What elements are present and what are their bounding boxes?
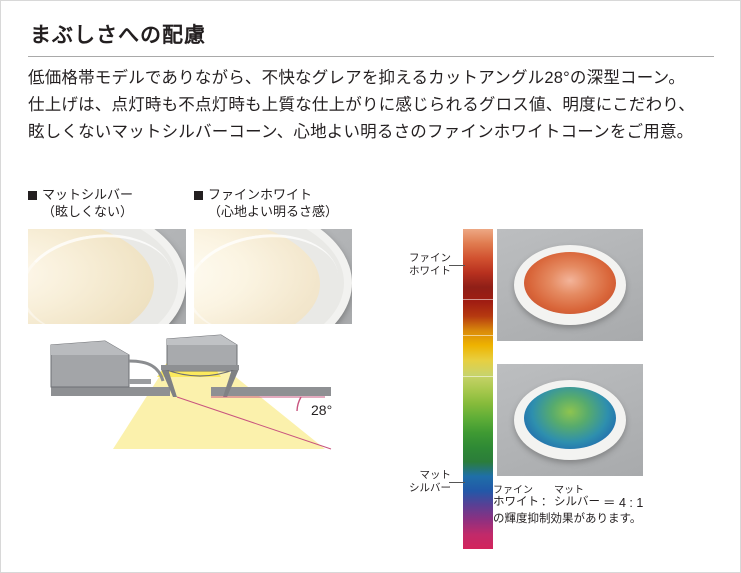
caption-matte-silver-line1: マットシルバー bbox=[42, 187, 133, 202]
ratio-fine-white-top: ファイン bbox=[493, 485, 539, 496]
bullet-square-icon bbox=[28, 191, 37, 200]
connector-wire bbox=[129, 361, 163, 381]
caption-fine-white-line1: ファインホワイト bbox=[208, 187, 312, 202]
caption-fine-white: ファインホワイト （心地よい明るさ感） bbox=[194, 186, 338, 220]
ratio-note: の輝度抑制効果があります。 bbox=[493, 512, 733, 526]
ratio-expression: ファイン ホワイト ： マット シルバー ＝ 4 : 1 bbox=[493, 485, 733, 509]
scale-label-fine-white: ファイン ホワイト bbox=[399, 252, 451, 278]
gear-box-bracket bbox=[129, 379, 151, 384]
title-divider bbox=[28, 56, 714, 57]
ratio-matte-silver-top: マット bbox=[554, 485, 600, 496]
scale-label-matte-silver: マット シルバー bbox=[399, 469, 451, 495]
body-line-3: 眩しくないマットシルバーコーン、心地よい明るさのファインホワイトコーンをご用意。 bbox=[28, 119, 728, 146]
page-root: まぶしさへの配慮 低価格帯モデルでありながら、不快なグレアを抑えるカットアングル… bbox=[0, 0, 741, 573]
angle-label: 28° bbox=[311, 402, 332, 418]
leader-line-matte-silver bbox=[449, 482, 465, 483]
ratio-term-fine-white: ファイン ホワイト bbox=[493, 485, 539, 509]
ratio-value: ＝ 4 : 1 bbox=[600, 497, 643, 509]
cone-flange bbox=[161, 365, 239, 370]
ratio-matte-silver-bottom: シルバー bbox=[554, 496, 600, 509]
photo-fine-white bbox=[194, 229, 352, 324]
scale-band-seam bbox=[463, 376, 493, 377]
ratio-term-matte-silver: マット シルバー bbox=[554, 485, 600, 509]
ceiling-slab-left bbox=[51, 387, 170, 396]
ratio-fine-white-bottom: ホワイト bbox=[493, 496, 539, 509]
scale-label-matte-silver-line2: シルバー bbox=[409, 482, 451, 494]
caption-fine-white-line2: （心地よい明るさ感） bbox=[194, 203, 338, 220]
luminance-map-interior bbox=[524, 387, 616, 449]
scale-band-seam bbox=[463, 335, 493, 336]
ratio-colon: ： bbox=[539, 496, 554, 509]
luminance-ratio-caption: ファイン ホワイト ： マット シルバー ＝ 4 : 1 の輝度抑制効果がありま… bbox=[493, 485, 733, 526]
scale-label-fine-white-line2: ホワイト bbox=[409, 265, 451, 277]
cut-angle-diagram: 28° bbox=[25, 331, 355, 463]
body-line-1: 低価格帯モデルでありながら、不快なグレアを抑えるカットアングル28°の深型コーン… bbox=[28, 65, 728, 92]
fixture-housing-top bbox=[167, 335, 237, 345]
scale-label-matte-silver-line1: マット bbox=[420, 469, 452, 481]
leader-line-fine-white bbox=[449, 265, 465, 266]
page-title: まぶしさへの配慮 bbox=[30, 19, 206, 49]
scale-band-seam bbox=[463, 299, 493, 300]
luminance-photo-matte-silver bbox=[497, 364, 643, 476]
luminance-map-interior bbox=[524, 252, 616, 314]
body-copy: 低価格帯モデルでありながら、不快なグレアを抑えるカットアングル28°の深型コーン… bbox=[28, 65, 728, 146]
bullet-square-icon bbox=[194, 191, 203, 200]
scale-label-fine-white-line1: ファイン bbox=[409, 252, 451, 264]
angle-arc-marker bbox=[297, 397, 301, 411]
luminance-photo-fine-white bbox=[497, 229, 643, 341]
caption-matte-silver-line2: （眩しくない） bbox=[28, 203, 133, 220]
photo-matte-silver bbox=[28, 229, 186, 324]
luminance-color-scale bbox=[463, 229, 493, 549]
body-line-2: 仕上げは、点灯時も不点灯時も上質な仕上がりに感じられるグロス値、明度にこだわり、 bbox=[28, 92, 728, 119]
caption-matte-silver: マットシルバー （眩しくない） bbox=[28, 186, 133, 220]
